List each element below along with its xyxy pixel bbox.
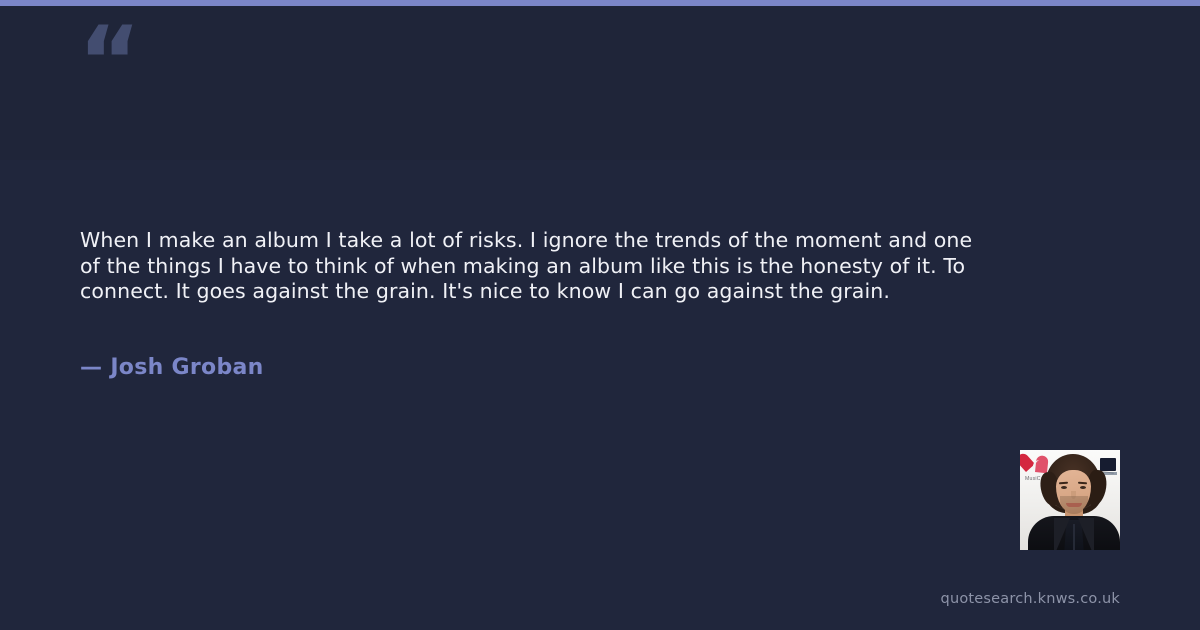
quote-text: When I make an album I take a lot of ris… xyxy=(80,228,980,305)
subject-eye-left xyxy=(1061,486,1067,489)
attribution-dash: — xyxy=(80,355,102,380)
subject-eye-right xyxy=(1080,486,1086,489)
sponsor-mark-icon xyxy=(1100,458,1116,471)
quote-card: “ When I make an album I take a lot of r… xyxy=(0,0,1200,630)
musicares-heart-icon xyxy=(1026,454,1048,474)
upper-panel xyxy=(0,6,1200,160)
quote-mark-icon: “ xyxy=(78,14,139,110)
subject-lapel-left xyxy=(1054,518,1070,550)
subject-mouth xyxy=(1066,503,1082,507)
quote-attribution: —Josh Groban xyxy=(80,354,264,382)
site-watermark: quotesearch.knws.co.uk xyxy=(941,589,1120,609)
subject-shirt-placket xyxy=(1073,524,1075,550)
author-name: Josh Groban xyxy=(110,355,263,380)
subject-lapel-right xyxy=(1078,518,1094,550)
portrait-scene: MusiCares xyxy=(1020,450,1120,550)
author-portrait[interactable]: MusiCares xyxy=(1020,450,1120,550)
